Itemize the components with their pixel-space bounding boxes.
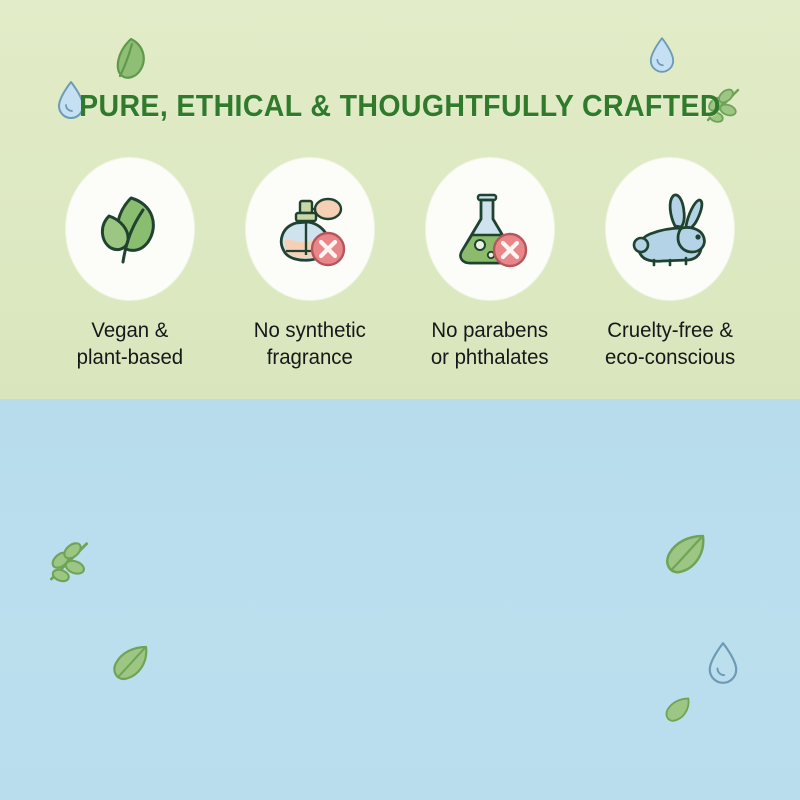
feature-caption: No parabens or phthalates: [431, 318, 549, 372]
sprig-decoration: [42, 532, 96, 586]
feature-cruelty-free-eco-conscious[interactable]: Cruelty-free & eco-conscious: [580, 158, 760, 372]
leaf-small-decoration: [662, 693, 694, 725]
leaf-icon: [93, 190, 167, 268]
feature-no-parabens-phthalates[interactable]: No parabens or phthalates: [400, 158, 580, 372]
infographic-root: PURE, ETHICAL & THOUGHTFULLY CRAFTED Veg…: [0, 0, 800, 800]
no-fragrance-icon: [270, 189, 350, 269]
leaf-decoration: [112, 36, 150, 82]
droplet-decoration: [648, 36, 676, 74]
feature-no-synthetic-fragrance[interactable]: No synthetic fragrance: [220, 158, 400, 372]
droplet-outline-decoration: [706, 641, 740, 685]
feature-icon-badge: [606, 158, 734, 300]
no-chemicals-icon: [450, 189, 530, 269]
feature-caption: No synthetic fragrance: [254, 318, 366, 372]
feature-vegan-plant-based[interactable]: Vegan & plant-based: [40, 158, 220, 372]
rabbit-icon: [628, 190, 712, 268]
leaf-decoration: [660, 527, 712, 579]
feature-caption: Cruelty-free & eco-conscious: [605, 318, 735, 372]
leaf-decoration: [108, 639, 154, 685]
page-title-pure-ethical: PURE, ETHICAL & THOUGHTFULLY CRAFTED: [32, 88, 768, 124]
feature-caption: Vegan & plant-based: [77, 318, 183, 372]
feature-icon-badge: [66, 158, 194, 300]
section-safety-first: SAFETY FIRST: [0, 399, 800, 800]
feature-icon-badge: [246, 158, 374, 300]
section-pure-ethical: PURE, ETHICAL & THOUGHTFULLY CRAFTED Veg…: [0, 0, 800, 399]
feature-row-pure-ethical: Vegan & plant-based: [40, 158, 760, 372]
feature-icon-badge: [426, 158, 554, 300]
